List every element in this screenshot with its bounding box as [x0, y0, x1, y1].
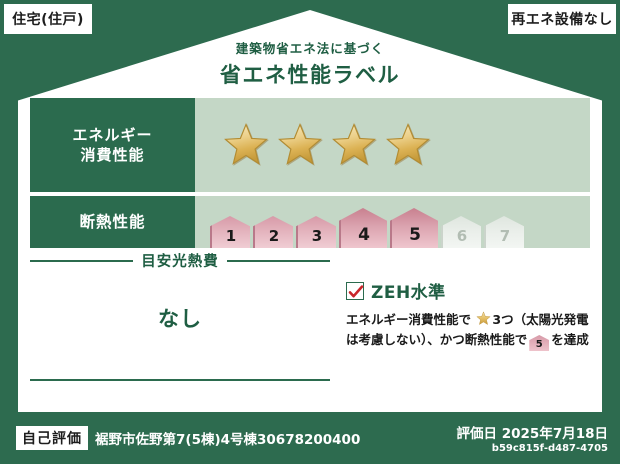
check-icon: [346, 282, 364, 300]
estimated-utility-cost-heading: 目安光熱費: [30, 250, 330, 271]
insulation-performance-label-text: 断熱性能: [79, 212, 145, 233]
building-type-tag-label: 住宅(住戸): [12, 9, 84, 29]
evaluation-date: 評価日 2025年7月18日: [457, 422, 608, 442]
zeh-desc-part3: を達成: [551, 332, 589, 347]
performance-rows: エネルギー 消費性能 断熱性能 1234567: [30, 98, 590, 248]
label-id: b59c815f-d487-4705: [457, 443, 608, 454]
footer: 自己評価 裾野市佐野第7(5棟)4号棟30678200400 評価日 2025年…: [0, 412, 620, 464]
building-name: 裾野市佐野第7(5棟)4号棟30678200400: [95, 428, 360, 448]
title-main: 省エネ性能ラベル: [0, 59, 620, 89]
lower-section: 目安光熱費 なし ZEH水準 エネルギー消費性能で: [30, 250, 590, 381]
self-evaluation-badge: 自己評価: [16, 426, 88, 450]
insulation-grade-badge-2: 2: [253, 216, 293, 248]
star-icon: [223, 122, 269, 168]
renewable-energy-tag-label: 再エネ設備なし: [511, 9, 613, 29]
zeh-standard-title: ZEH水準: [371, 278, 446, 303]
energy-performance-label-line2: 消費性能: [80, 145, 144, 165]
energy-performance-label: エネルギー 消費性能: [30, 98, 195, 192]
insulation-grade-badge-4: 4: [339, 208, 387, 248]
insulation-grade-inline-badge: 5: [529, 335, 549, 351]
zeh-standard-description: エネルギー消費性能で 3つ（太陽光発電は考慮しない）、かつ断熱性能で5を達成: [346, 310, 590, 351]
building-type-tag: 住宅(住戸): [4, 4, 92, 34]
insulation-grade-badge-3: 3: [296, 216, 336, 248]
heading-rule-left: [30, 260, 133, 262]
title-subtitle: 建築物省エネ法に基づく: [0, 38, 620, 57]
star-icon: [277, 122, 323, 168]
cost-block-bottom-rule: [30, 379, 330, 381]
insulation-grade-badge-6: 6: [441, 216, 481, 248]
insulation-performance-row: 断熱性能 1234567: [30, 196, 590, 248]
star-icon: [331, 122, 377, 168]
renewable-energy-tag: 再エネ設備なし: [508, 4, 616, 34]
page-title: 建築物省エネ法に基づく 省エネ性能ラベル: [0, 38, 620, 89]
zeh-standard-heading: ZEH水準: [346, 278, 590, 303]
insulation-performance-label: 断熱性能: [30, 196, 195, 248]
energy-performance-row: エネルギー 消費性能: [30, 98, 590, 192]
insulation-grade-scale: 1234567: [195, 196, 590, 248]
insulation-grade-badge-1: 1: [210, 216, 250, 248]
estimated-utility-cost-block: 目安光熱費 なし: [30, 250, 330, 381]
heading-rule-right: [227, 260, 330, 262]
star-icon: [476, 311, 491, 326]
insulation-grade-badge-7: 7: [484, 216, 524, 248]
estimated-utility-cost-value: なし: [30, 271, 330, 379]
energy-star-rating: [195, 98, 590, 192]
energy-performance-label-line1: エネルギー: [72, 125, 152, 145]
estimated-utility-cost-heading-text: 目安光熱費: [141, 250, 219, 271]
zeh-desc-part1: エネルギー消費性能で: [346, 312, 471, 327]
zeh-standard-block: ZEH水準 エネルギー消費性能で 3つ（太陽光発電は考慮しない）、かつ断熱性能で…: [330, 250, 590, 381]
star-icon: [385, 122, 431, 168]
insulation-grade-badge-5: 5: [390, 208, 438, 248]
footer-right-block: 評価日 2025年7月18日 b59c815f-d487-4705: [457, 422, 608, 454]
